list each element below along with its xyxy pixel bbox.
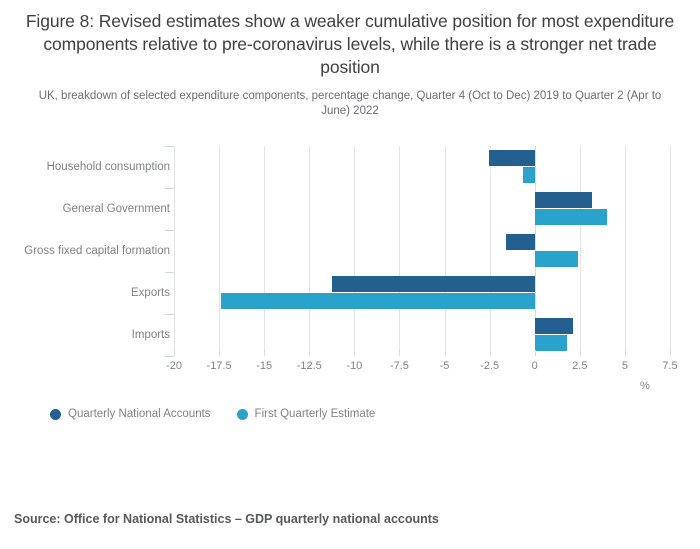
x-axis-tick-mark [445, 350, 446, 355]
x-axis-tick-mark [399, 350, 400, 355]
y-axis-tick [165, 230, 174, 231]
bar-qna[interactable] [535, 318, 573, 334]
bar-qna[interactable] [489, 150, 535, 166]
x-axis-tick-mark [354, 350, 355, 355]
x-axis-tick-label: 7.5 [640, 360, 700, 372]
x-axis-tick-mark [174, 350, 175, 355]
x-axis-tick-mark [580, 350, 581, 355]
bar-fqe[interactable] [523, 167, 535, 183]
y-axis-tick [165, 356, 174, 357]
figure-header: Figure 8: Revised estimates show a weake… [0, 0, 700, 119]
chart-legend: Quarterly National AccountsFirst Quarter… [50, 408, 375, 420]
page-title: Figure 8: Revised estimates show a weake… [22, 10, 678, 79]
bar-fqe[interactable] [535, 335, 567, 351]
legend-item[interactable]: First Quarterly Estimate [237, 408, 376, 420]
y-axis-tick [165, 146, 174, 147]
bar-qna[interactable] [506, 234, 535, 250]
source-note: Source: Office for National Statistics –… [14, 512, 439, 526]
category-label-imports: Imports [132, 328, 170, 342]
bar-fqe[interactable] [535, 251, 578, 267]
chart-area: Household consumptionGeneral GovernmentG… [0, 140, 700, 400]
x-axis-tick-mark [490, 350, 491, 355]
plot-region [174, 146, 670, 356]
chart-band [174, 314, 670, 356]
chart-band [174, 188, 670, 230]
y-axis-tick [165, 272, 174, 273]
legend-swatch-circle-icon [50, 409, 61, 420]
gridline [670, 146, 671, 356]
chart-band [174, 272, 670, 314]
legend-swatch-circle-icon [237, 409, 248, 420]
category-label-general-government: General Government [63, 202, 170, 216]
bar-fqe[interactable] [221, 293, 535, 309]
figure-subtitle: UK, breakdown of selected expenditure co… [30, 89, 670, 119]
x-axis-tick-mark [309, 350, 310, 355]
x-axis-tick-mark [264, 350, 265, 355]
x-axis-tick-mark [625, 350, 626, 355]
bar-qna[interactable] [535, 192, 593, 208]
legend-item-label: Quarterly National Accounts [68, 408, 211, 420]
legend-item-label: First Quarterly Estimate [255, 408, 376, 420]
bar-fqe[interactable] [535, 209, 607, 225]
category-label-gross-fixed-capital-formation: Gross fixed capital formation [24, 244, 170, 258]
x-axis-tick-mark [535, 350, 536, 355]
x-axis-tick-mark [670, 350, 671, 355]
category-label-household-consumption: Household consumption [47, 160, 170, 174]
chart-band [174, 146, 670, 188]
x-axis-label: % [640, 380, 650, 392]
category-label-exports: Exports [131, 286, 170, 300]
legend-item[interactable]: Quarterly National Accounts [50, 408, 211, 420]
y-axis-tick [165, 188, 174, 189]
y-axis-tick [165, 314, 174, 315]
x-axis-tick-mark [219, 350, 220, 355]
chart-band [174, 230, 670, 272]
bar-qna[interactable] [332, 276, 535, 292]
